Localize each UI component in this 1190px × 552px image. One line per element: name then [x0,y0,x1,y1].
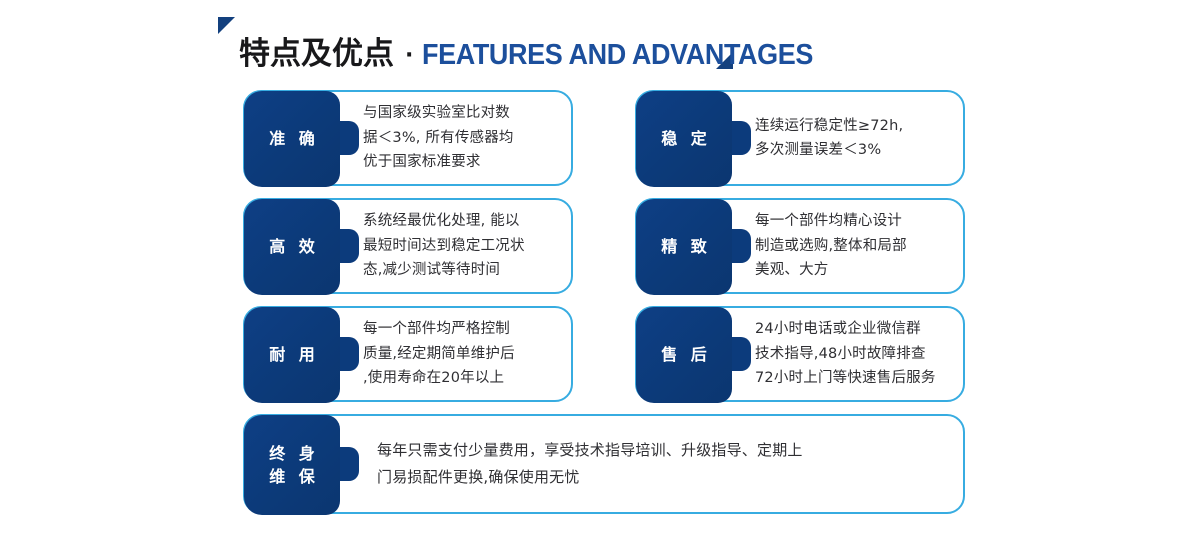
feature-card-row-4: 终 身 维 保 每年只需支付少量费用，享受技术指导培训、升级指导、定期上 门易损… [243,414,965,514]
badge-line: 稳 定 [657,127,711,150]
feature-card-row-1: 准 确 与国家级实验室比对数 据＜3%, 所有传感器均 优于国家标准要求 稳 定… [243,90,965,186]
badge-line: 准 确 [265,127,319,150]
feature-badge-label: 终 身 维 保 [244,415,340,515]
badge-pointer-icon [731,337,751,371]
description-line: 制造或选购,整体和局部 [755,234,951,258]
feature-card-row-3: 耐 用 每一个部件均严格控制 质量,经定期简单维护后 ,使用寿命在20年以上 售… [243,306,965,402]
feature-badge-label: 高 效 [244,199,340,295]
description-line: 美观、大方 [755,258,951,282]
feature-card-row-2: 高 效 系统经最优化处理, 能以 最短时间达到稳定工况状 态,减少测试等待时间 … [243,198,965,294]
page-title-english: FEATURES AND ADVANTAGES [422,39,813,72]
feature-card-after-sales[interactable]: 售 后 24小时电话或企业微信群 技术指导,48小时故障排查 72小时上门等快速… [635,306,965,402]
feature-description: 连续运行稳定性≥72h, 多次测量误差＜3% [755,92,951,184]
description-line: 态,减少测试等待时间 [363,258,559,282]
feature-badge-label: 准 确 [244,91,340,187]
badge-line: 维 保 [265,465,319,488]
feature-card-efficiency[interactable]: 高 效 系统经最优化处理, 能以 最短时间达到稳定工况状 态,减少测试等待时间 [243,198,573,294]
feature-card-stability[interactable]: 稳 定 连续运行稳定性≥72h, 多次测量误差＜3% [635,90,965,186]
section-header: 特点及优点 · FEATURES AND ADVANTAGES [218,14,738,80]
description-line: 多次测量误差＜3% [755,138,951,162]
feature-card-accuracy[interactable]: 准 确 与国家级实验室比对数 据＜3%, 所有传感器均 优于国家标准要求 [243,90,573,186]
description-line: 72小时上门等快速售后服务 [755,366,951,390]
description-line: 质量,经定期简单维护后 [363,342,559,366]
description-line: 技术指导,48小时故障排查 [755,342,951,366]
badge-pointer-icon [339,121,359,155]
badge-pointer-icon [339,447,359,481]
feature-badge-label: 售 后 [636,307,732,403]
feature-description: 系统经最优化处理, 能以 最短时间达到稳定工况状 态,减少测试等待时间 [363,200,559,292]
badge-pointer-icon [731,121,751,155]
feature-description: 每一个部件均严格控制 质量,经定期简单维护后 ,使用寿命在20年以上 [363,308,559,400]
page-title: 特点及优点 · FEATURES AND ADVANTAGES [239,28,843,73]
feature-description: 每年只需支付少量费用，享受技术指导培训、升级指导、定期上 门易损配件更换,确保使… [377,416,951,512]
feature-card-refinement[interactable]: 精 致 每一个部件均精心设计 制造或选购,整体和局部 美观、大方 [635,198,965,294]
badge-line: 高 效 [265,235,319,258]
badge-line: 终 身 [265,442,319,465]
title-separator-dot: · [405,43,413,68]
page-title-chinese: 特点及优点 [239,28,394,73]
badge-line: 售 后 [657,343,711,366]
description-line: 系统经最优化处理, 能以 [363,209,559,233]
description-line: 每年只需支付少量费用，享受技术指导培训、升级指导、定期上 [377,437,951,464]
feature-card-grid: 准 确 与国家级实验室比对数 据＜3%, 所有传感器均 优于国家标准要求 稳 定… [243,90,965,526]
description-line: 与国家级实验室比对数 [363,101,559,125]
description-line: 每一个部件均严格控制 [363,317,559,341]
feature-card-lifetime-maintenance[interactable]: 终 身 维 保 每年只需支付少量费用，享受技术指导培训、升级指导、定期上 门易损… [243,414,965,514]
feature-card-durability[interactable]: 耐 用 每一个部件均严格控制 质量,经定期简单维护后 ,使用寿命在20年以上 [243,306,573,402]
feature-description: 24小时电话或企业微信群 技术指导,48小时故障排查 72小时上门等快速售后服务 [755,308,951,400]
badge-pointer-icon [339,337,359,371]
description-line: 24小时电话或企业微信群 [755,317,951,341]
feature-badge-label: 耐 用 [244,307,340,403]
badge-pointer-icon [339,229,359,263]
badge-line: 耐 用 [265,343,319,366]
description-line: 连续运行稳定性≥72h, [755,114,951,138]
feature-description: 与国家级实验室比对数 据＜3%, 所有传感器均 优于国家标准要求 [363,92,559,184]
corner-triangle-top-left-icon [218,17,235,34]
description-line: 每一个部件均精心设计 [755,209,951,233]
feature-description: 每一个部件均精心设计 制造或选购,整体和局部 美观、大方 [755,200,951,292]
description-line: 优于国家标准要求 [363,150,559,174]
feature-badge-label: 精 致 [636,199,732,295]
description-line: 门易损配件更换,确保使用无忧 [377,464,951,491]
badge-line: 精 致 [657,235,711,258]
description-line: ,使用寿命在20年以上 [363,366,559,390]
feature-badge-label: 稳 定 [636,91,732,187]
badge-pointer-icon [731,229,751,263]
description-line: 最短时间达到稳定工况状 [363,234,559,258]
description-line: 据＜3%, 所有传感器均 [363,126,559,150]
